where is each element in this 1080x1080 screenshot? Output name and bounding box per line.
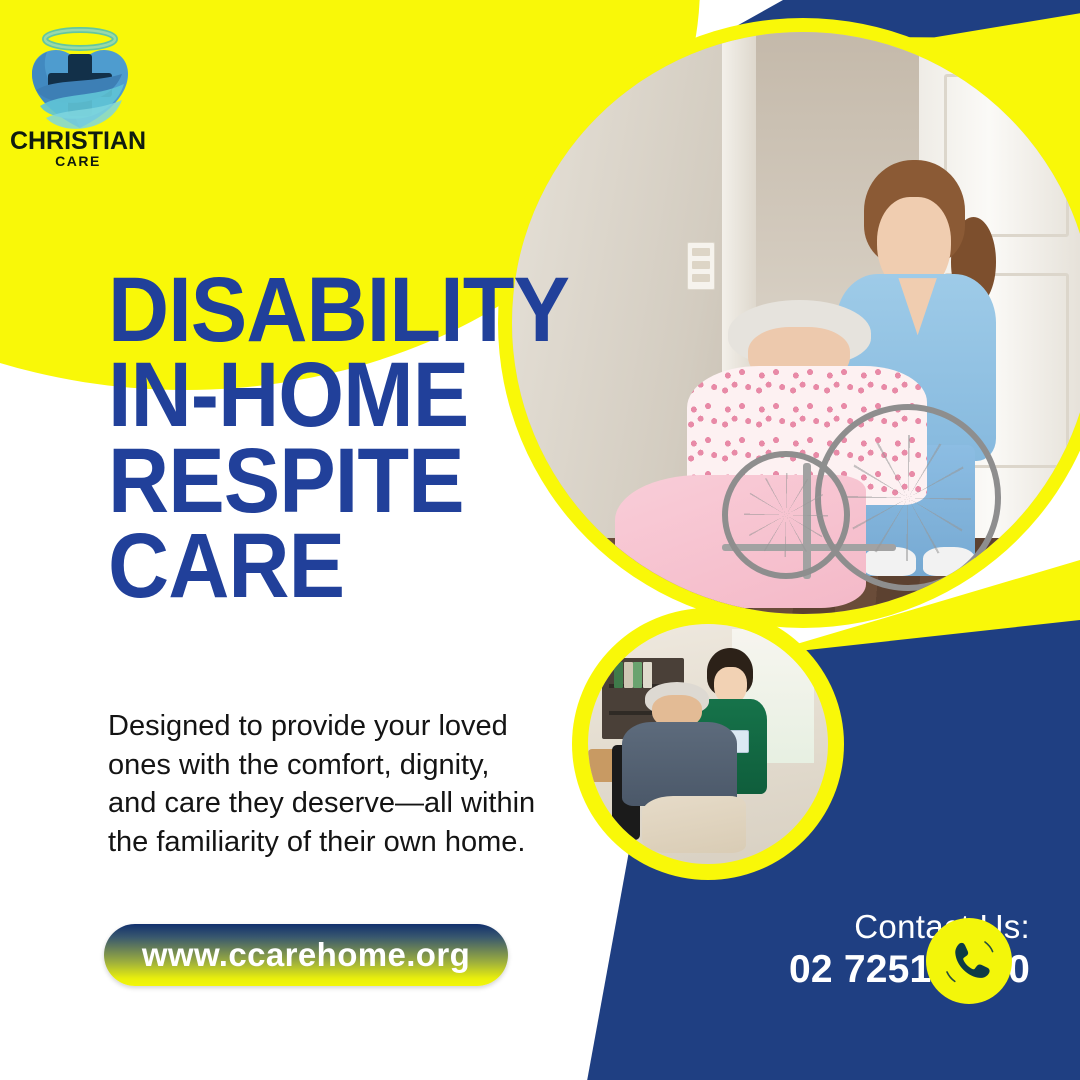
brand-logo[interactable]: CHRISTIAN CARE <box>10 18 150 168</box>
headline-line-3: RESPITE <box>108 439 504 525</box>
poster-canvas: CHRISTIAN CARE DISABILITY IN-HOME RESPIT… <box>0 0 1080 1080</box>
headline-line-4: CARE <box>108 524 504 610</box>
phone-handset-glyph <box>955 943 989 978</box>
hero-light-switch <box>687 242 715 290</box>
wheelchair-wheel <box>722 451 850 579</box>
page-title: DISABILITY IN-HOME RESPITE CARE <box>108 268 504 610</box>
subcopy-paragraph: Designed to provide your loved ones with… <box>108 707 538 861</box>
website-url-button[interactable]: www.ccarehome.org <box>104 924 508 986</box>
inset-photo <box>588 624 828 864</box>
phone-icon[interactable] <box>926 918 1012 1004</box>
inset-client-figure <box>622 682 737 850</box>
headline-line-1: DISABILITY <box>108 268 504 354</box>
logo-wordmark-secondary: CARE <box>55 153 101 168</box>
website-url-label: www.ccarehome.org <box>142 936 470 974</box>
headline-line-2: IN-HOME <box>108 353 504 439</box>
hero-photo <box>512 32 1080 614</box>
logo-wordmark-primary: CHRISTIAN <box>10 127 146 155</box>
